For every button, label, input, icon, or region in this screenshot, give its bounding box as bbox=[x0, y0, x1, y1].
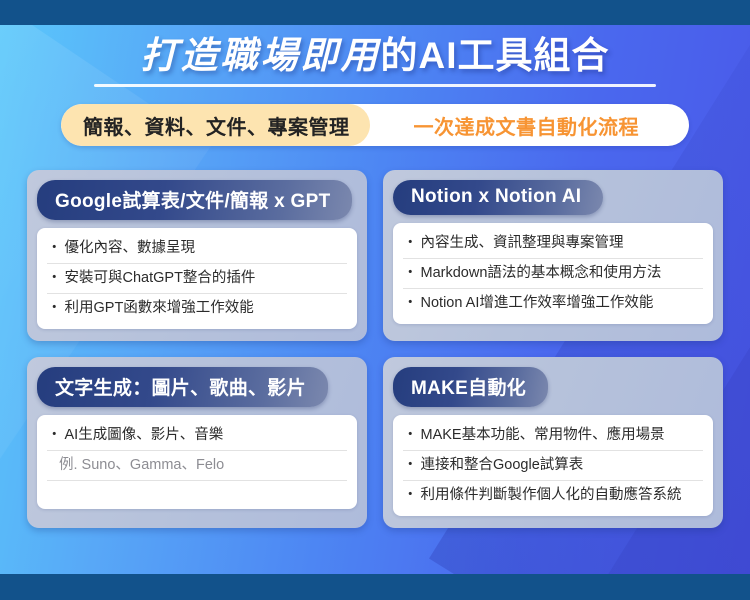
page-title: 打造職場即用的AI工具組合 bbox=[0, 36, 750, 75]
card-notion: Notion x Notion AI ・內容生成、資訊整理與專案管理 ・Mark… bbox=[383, 170, 723, 341]
list-item: ・AI生成圖像、影片、音樂 bbox=[47, 421, 347, 451]
list-item-text: 內容生成、資訊整理與專案管理 bbox=[421, 235, 624, 251]
list-item: ・連接和整合Google試算表 bbox=[403, 451, 703, 481]
card-header-notion: Notion x Notion AI bbox=[393, 180, 603, 215]
bullet-icon: ・ bbox=[47, 270, 62, 286]
list-item-text: 優化內容、數據呈現 bbox=[65, 240, 196, 256]
list-item-text: MAKE基本功能、常用物件、應用場景 bbox=[421, 427, 665, 443]
card-google-gpt: Google試算表/文件/簡報 x GPT ・優化內容、數據呈現 ・安裝可與Ch… bbox=[27, 170, 367, 341]
list-item-empty bbox=[47, 481, 347, 503]
card-title: Google試算表/文件/簡報 x GPT bbox=[55, 191, 330, 212]
list-item: ・利用GPT函數來增強工作效能 bbox=[47, 294, 347, 323]
list-item-text: AI生成圖像、影片、音樂 bbox=[65, 427, 224, 443]
title-underline bbox=[94, 84, 656, 87]
list-item: ・Markdown語法的基本概念和使用方法 bbox=[403, 259, 703, 289]
list-item-text: Markdown語法的基本概念和使用方法 bbox=[421, 265, 662, 281]
page-title-italic-part: 打造職場即用 bbox=[141, 35, 381, 76]
subtitle-right-label: 一次達成文書自動化流程 bbox=[414, 111, 640, 140]
card-body: ・優化內容、數據呈現 ・安裝可與ChatGPT整合的插件 ・利用GPT函數來增強… bbox=[37, 228, 357, 329]
bullet-icon: ・ bbox=[403, 427, 418, 443]
card-title: Notion x Notion AI bbox=[411, 186, 581, 207]
card-body: ・內容生成、資訊整理與專案管理 ・Markdown語法的基本概念和使用方法 ・N… bbox=[393, 223, 713, 324]
card-make-automation: MAKE自動化 ・MAKE基本功能、常用物件、應用場景 ・連接和整合Google… bbox=[383, 357, 723, 528]
list-item-text: 利用GPT函數來增強工作效能 bbox=[65, 300, 254, 316]
subtitle-left-label: 簡報、資料、文件、專案管理 bbox=[83, 111, 350, 140]
list-item-text: 連接和整合Google試算表 bbox=[421, 457, 584, 473]
card-header-google-gpt: Google試算表/文件/簡報 x GPT bbox=[37, 180, 352, 220]
subtitle-pill-left: 簡報、資料、文件、專案管理 bbox=[61, 104, 370, 146]
card-header-make-automation: MAKE自動化 bbox=[393, 367, 548, 407]
list-item: ・利用條件判斷製作個人化的自動應答系統 bbox=[403, 481, 703, 510]
list-item: ・優化內容、數據呈現 bbox=[47, 234, 347, 264]
list-item-text: Notion AI增進工作效率增強工作效能 bbox=[421, 295, 654, 311]
list-item: ・安裝可與ChatGPT整合的插件 bbox=[47, 264, 347, 294]
bullet-icon: ・ bbox=[403, 457, 418, 473]
bullet-icon: ・ bbox=[47, 240, 62, 256]
poster-canvas: 打造職場即用的AI工具組合 簡報、資料、文件、專案管理 一次達成文書自動化流程 … bbox=[0, 0, 750, 600]
card-body: ・MAKE基本功能、常用物件、應用場景 ・連接和整合Google試算表 ・利用條… bbox=[393, 415, 713, 516]
page-title-upright-part: 的AI工具組合 bbox=[381, 35, 610, 76]
list-item-text: 利用條件判斷製作個人化的自動應答系統 bbox=[421, 487, 682, 503]
cards-grid: Google試算表/文件/簡報 x GPT ・優化內容、數據呈現 ・安裝可與Ch… bbox=[27, 170, 723, 528]
list-item: ・內容生成、資訊整理與專案管理 bbox=[403, 229, 703, 259]
bullet-icon: ・ bbox=[403, 295, 418, 311]
bullet-icon: ・ bbox=[403, 487, 418, 503]
bottom-accent-bar bbox=[0, 574, 750, 600]
list-item: ・Notion AI增進工作效率增強工作效能 bbox=[403, 289, 703, 318]
bullet-icon: ・ bbox=[47, 300, 62, 316]
card-title: MAKE自動化 bbox=[411, 378, 526, 399]
list-item: ・MAKE基本功能、常用物件、應用場景 bbox=[403, 421, 703, 451]
subtitle-pill: 簡報、資料、文件、專案管理 一次達成文書自動化流程 bbox=[61, 104, 689, 146]
card-text-generation: 文字生成：圖片、歌曲、影片 ・AI生成圖像、影片、音樂 例. Suno、Gamm… bbox=[27, 357, 367, 528]
bullet-icon: ・ bbox=[47, 427, 62, 443]
bullet-icon: ・ bbox=[403, 235, 418, 251]
card-header-text-generation: 文字生成：圖片、歌曲、影片 bbox=[37, 367, 328, 407]
top-accent-bar bbox=[0, 0, 750, 25]
subtitle-pill-right: 一次達成文書自動化流程 bbox=[370, 104, 690, 146]
list-item-text: 安裝可與ChatGPT整合的插件 bbox=[65, 270, 256, 286]
card-title: 文字生成：圖片、歌曲、影片 bbox=[55, 378, 306, 399]
bullet-icon: ・ bbox=[403, 265, 418, 281]
list-item-text: 例. Suno、Gamma、Felo bbox=[59, 457, 224, 473]
card-body: ・AI生成圖像、影片、音樂 例. Suno、Gamma、Felo bbox=[37, 415, 357, 509]
list-item-sub: 例. Suno、Gamma、Felo bbox=[47, 451, 347, 481]
